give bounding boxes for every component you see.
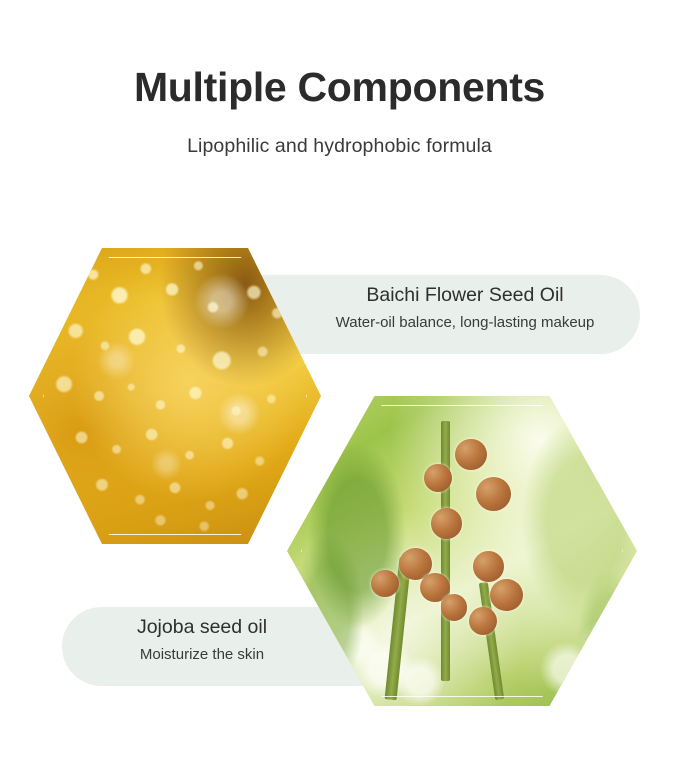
berry: [490, 579, 523, 612]
berry: [473, 551, 505, 582]
component-text-baichi: Baichi Flower Seed Oil Water-oil balance…: [290, 283, 640, 333]
berry: [431, 508, 463, 539]
page-subtitle: Lipophilic and hydrophobic formula: [0, 109, 679, 158]
header: Multiple Components Lipophilic and hydro…: [0, 66, 679, 158]
berry: [371, 570, 399, 598]
berry: [399, 548, 432, 581]
component-description: Water-oil balance, long-lasting makeup: [290, 307, 640, 333]
berry: [476, 477, 511, 511]
berry-stem-right: [478, 582, 503, 700]
berry: [455, 439, 487, 470]
berry: [420, 573, 450, 602]
hexagon-inner-frame: [301, 405, 623, 697]
berry-stem-left: [385, 557, 412, 700]
component-description: Moisturize the skin: [62, 639, 342, 665]
berry-stem-main: [441, 421, 450, 681]
component-title: Jojoba seed oil: [62, 615, 342, 639]
berry: [441, 594, 467, 620]
component-text-jojoba: Jojoba seed oil Moisturize the skin: [62, 615, 342, 665]
berry: [424, 464, 452, 492]
hexagon-inner-frame: [43, 257, 307, 535]
page-title: Multiple Components: [0, 66, 679, 109]
berry: [469, 607, 497, 635]
component-title: Baichi Flower Seed Oil: [290, 283, 640, 307]
product-feature-page: Multiple Components Lipophilic and hydro…: [0, 0, 679, 766]
